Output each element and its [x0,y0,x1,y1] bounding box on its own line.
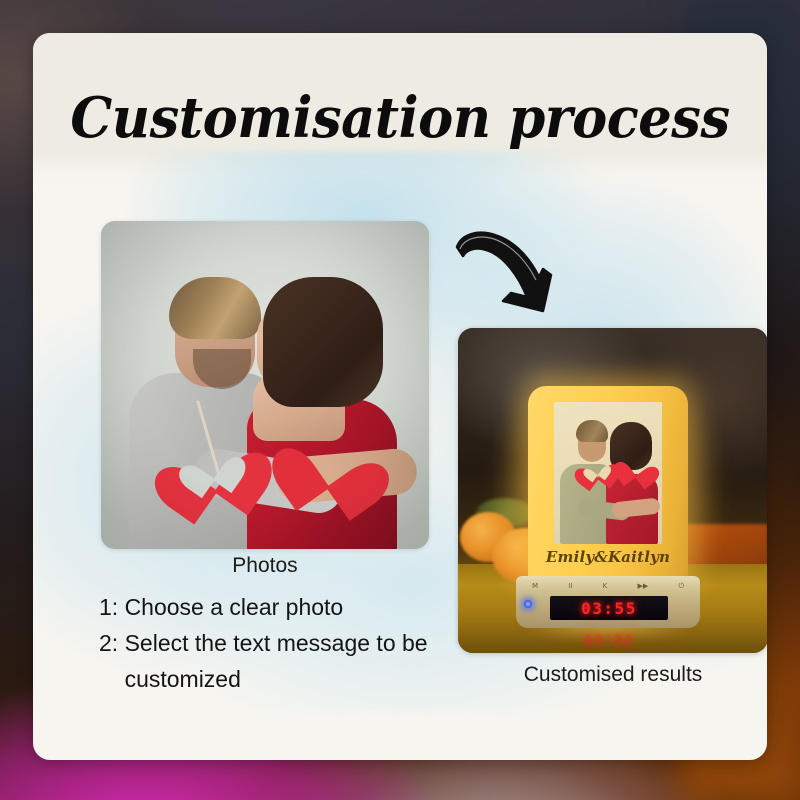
photos-caption: Photos [101,554,429,578]
results-caption: Customised results [458,663,767,687]
lamp-printed-photo [554,402,662,544]
printed-heart-outline-icon [580,454,614,486]
step-item-3: customized [99,661,451,697]
source-photo[interactable] [101,221,429,549]
printed-heart-solid-icon [620,452,654,484]
engraved-name-text: Emily&Kaitlyn [528,548,688,566]
curved-doodle-arrow-icon [447,225,565,329]
clock-reflection-time: 03:55 [584,631,634,647]
step-item-1: 1: Choose a clear photo [99,589,451,625]
lamp-base: M II K ▶▶ ⏻ 03:55 [516,576,700,628]
instruction-steps: 1: Choose a clear photo 2: Select the te… [99,589,451,697]
infographic-card: Customisation process Photos 1: Choose a… [33,33,767,760]
control-button-power[interactable]: ⏻ [678,583,684,590]
control-button-m[interactable]: M [532,583,538,590]
result-photo[interactable]: Emily&Kaitlyn M II K ▶▶ ⏻ 03:55 03:55 [458,328,767,653]
clock-time: 03:55 [581,599,637,618]
lamp-shade: Emily&Kaitlyn [528,386,688,580]
page-title: Customisation process [55,85,745,151]
photo-vignette [101,221,429,549]
lamp-control-buttons[interactable]: M II K ▶▶ ⏻ [532,581,684,592]
clock-reflection: 03:55 [550,630,668,648]
clock-display: 03:55 [550,596,668,620]
control-button-k[interactable]: K [603,583,608,590]
printed-man-hair [576,420,608,442]
control-button-pause[interactable]: II [568,583,572,590]
step-item-2: 2: Select the text message to be [99,625,451,661]
led-indicator-icon [524,600,532,608]
control-button-next[interactable]: ▶▶ [637,583,648,590]
